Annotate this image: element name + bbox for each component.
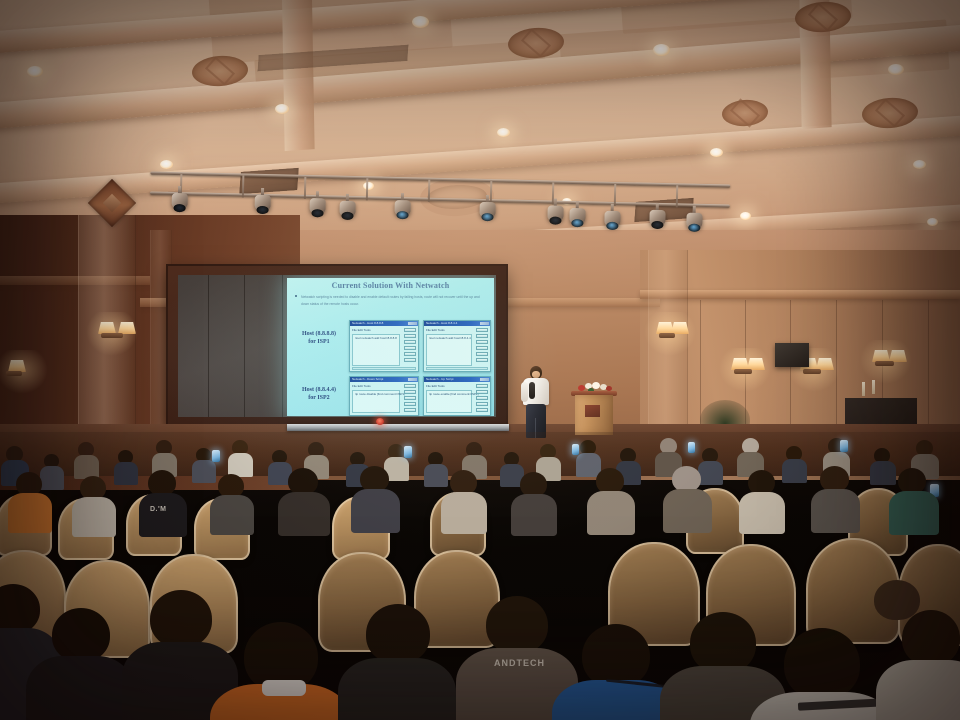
ceiling-downlight — [653, 44, 670, 56]
window-title: Netwatch - Down Script — [352, 377, 383, 381]
ceiling-downlight — [412, 16, 429, 28]
window-content-pane: /ip route disable [find comment=ISP1] — [352, 390, 400, 413]
wall-pillar — [648, 250, 688, 450]
window-button-column — [476, 384, 488, 414]
slide-host-label-isp2: Host (8.8.4.4) for ISP2 — [291, 386, 347, 402]
slide-bullet-label: Netwatch scripting is needed to disable … — [301, 295, 480, 306]
stage-spotlight — [604, 204, 621, 230]
window-button — [476, 390, 488, 394]
host-isp: for ISP1 — [308, 339, 329, 345]
window-content-pane: /ip route enable [find comment=ISP2] — [426, 390, 472, 413]
tshirt-text: D.'M — [150, 506, 167, 513]
phone-screen — [688, 442, 695, 453]
presenter-arm — [521, 382, 528, 402]
window-titlebar: Netwatch - Down Script — [350, 377, 418, 382]
window-button — [476, 358, 488, 362]
window-statusbar — [352, 367, 416, 370]
window-title: Netwatch - Host 8.8.8.8 — [352, 321, 383, 325]
window-button — [404, 396, 416, 400]
conference-hall-photo: Current Solution With Netwatch Netwatch … — [0, 0, 960, 720]
audience: D.'M ANDTECH — [0, 432, 960, 720]
stage-spotlight — [309, 191, 326, 217]
window-button — [404, 408, 416, 412]
window-body-text: /ip route enable [find comment=ISP2] — [429, 392, 478, 396]
projection-screen-surface: Current Solution With Netwatch Netwatch … — [178, 275, 496, 417]
ceiling-downlight — [275, 104, 289, 114]
window-button — [404, 334, 416, 338]
phone-screen — [404, 446, 412, 458]
slide-title: Current Solution With Netwatch — [287, 281, 494, 290]
sconce-arm — [6, 371, 22, 376]
podium-plaque — [585, 405, 600, 417]
projected-slide: Current Solution With Netwatch Netwatch … — [287, 278, 494, 416]
window-controls — [408, 378, 417, 381]
microphone — [529, 382, 535, 399]
ceiling-downlight — [27, 66, 43, 77]
sconce-arm — [734, 369, 752, 374]
window-controls — [480, 322, 489, 325]
window-titlebar: Netwatch - Host 8.8.8.8 — [350, 321, 418, 326]
wall-seam — [836, 300, 837, 440]
window-button — [476, 352, 488, 356]
host-isp: for ISP2 — [308, 395, 329, 401]
phone-screen — [840, 440, 848, 452]
window-button — [404, 402, 416, 406]
window-button — [404, 384, 416, 388]
window-statusbar — [426, 367, 488, 370]
wall-seam — [790, 300, 791, 440]
podium — [572, 383, 616, 435]
window-controls — [408, 322, 417, 325]
window-button — [404, 390, 416, 394]
stage-spotlight — [339, 194, 356, 220]
ceiling-medallion — [507, 26, 565, 60]
window-titlebar: Netwatch - Up Script — [424, 377, 490, 382]
window-button — [476, 346, 488, 350]
window-button — [476, 396, 488, 400]
window-titlebar: Netwatch - Host 8.8.4.4 — [424, 321, 490, 326]
window-content-pane: /tool netwatch add host=8.8.4.4 — [426, 334, 472, 366]
window-button — [476, 340, 488, 344]
host-name: Host (8.8.8.8) — [302, 331, 336, 337]
window-button — [476, 328, 488, 332]
window-button — [404, 352, 416, 356]
window-button — [404, 358, 416, 362]
sconce-arm — [659, 333, 675, 338]
window-body-text: /tool netwatch add host=8.8.4.4 — [429, 336, 471, 340]
phone-screen — [212, 450, 220, 462]
ceiling-downlight — [710, 148, 723, 157]
truss-rail — [150, 191, 730, 207]
window-title: Netwatch - Host 8.8.4.4 — [426, 321, 457, 325]
slide-window-4: Netwatch - Up Script File Edit Tools /ip… — [423, 376, 491, 416]
stage-spotlight — [255, 188, 272, 214]
window-content-pane: /tool netwatch add host=8.8.8.8 — [352, 334, 400, 366]
window-button — [476, 334, 488, 338]
phone-screen — [572, 444, 579, 455]
slide-host-label-isp1: Host (8.8.8.8) for ISP1 — [291, 330, 347, 346]
window-button — [404, 328, 416, 332]
presenter — [521, 366, 551, 438]
stage-spotlight — [649, 203, 666, 229]
window-button — [404, 346, 416, 350]
window-button — [476, 408, 488, 412]
window-menubar: File Edit Tools — [426, 384, 445, 388]
window-button-column — [404, 328, 416, 364]
ceiling-downlight — [740, 212, 751, 220]
window-button-column — [476, 328, 488, 364]
window-button — [404, 340, 416, 344]
window-controls — [480, 378, 489, 381]
window-button-column — [404, 384, 416, 414]
laser-pointer-dot — [376, 418, 384, 425]
shirt-collar — [262, 680, 306, 696]
window-menubar: File Edit Tools — [352, 328, 371, 332]
ceiling-beam-vertical — [281, 0, 314, 151]
sconce-arm — [803, 369, 821, 374]
wall-speaker — [775, 343, 809, 367]
slide-window-3: Netwatch - Down Script File Edit Tools /… — [349, 376, 419, 416]
host-name: Host (8.8.4.4) — [302, 387, 336, 393]
window-button — [476, 384, 488, 388]
window-title: Netwatch - Up Script — [426, 377, 454, 381]
ceiling-downlight — [497, 128, 510, 137]
window-menubar: File Edit Tools — [426, 328, 445, 332]
bullet-marker — [295, 295, 297, 297]
sconce-arm — [875, 361, 894, 366]
stage-spotlight — [479, 195, 496, 221]
ceiling-downlight — [888, 64, 904, 75]
slide-bullet-text: Netwatch scripting is needed to disable … — [301, 294, 488, 308]
presenter-face — [532, 371, 540, 378]
window-body-text: /tool netwatch add host=8.8.8.8 — [355, 336, 397, 340]
ceiling-downlight — [913, 160, 926, 169]
wall-cornice — [640, 290, 960, 299]
stage-spotlight — [686, 206, 703, 232]
candle — [862, 382, 865, 396]
ceiling-downlight — [927, 218, 938, 226]
ceiling-medallion — [721, 98, 769, 127]
window-body-text: /ip route disable [find comment=ISP1] — [355, 392, 405, 396]
tshirt-text: ANDTECH — [494, 658, 545, 668]
wall-seam — [928, 300, 929, 440]
slide-window-1: Netwatch - Host 8.8.8.8 File Edit Tools … — [349, 320, 419, 372]
projection-screen-frame: Current Solution With Netwatch Netwatch … — [168, 266, 506, 428]
ceiling-downlight — [160, 160, 173, 169]
stage-spotlight — [394, 193, 411, 219]
stage-spotlight — [547, 198, 564, 224]
candle — [872, 380, 875, 394]
stage-spotlight — [569, 201, 586, 227]
window-button — [476, 402, 488, 406]
stage-spotlight — [172, 186, 189, 212]
slide-window-2: Netwatch - Host 8.8.4.4 File Edit Tools … — [423, 320, 491, 372]
window-menubar: File Edit Tools — [352, 384, 371, 388]
sconce-arm — [101, 333, 123, 338]
stage-edge — [287, 424, 509, 431]
